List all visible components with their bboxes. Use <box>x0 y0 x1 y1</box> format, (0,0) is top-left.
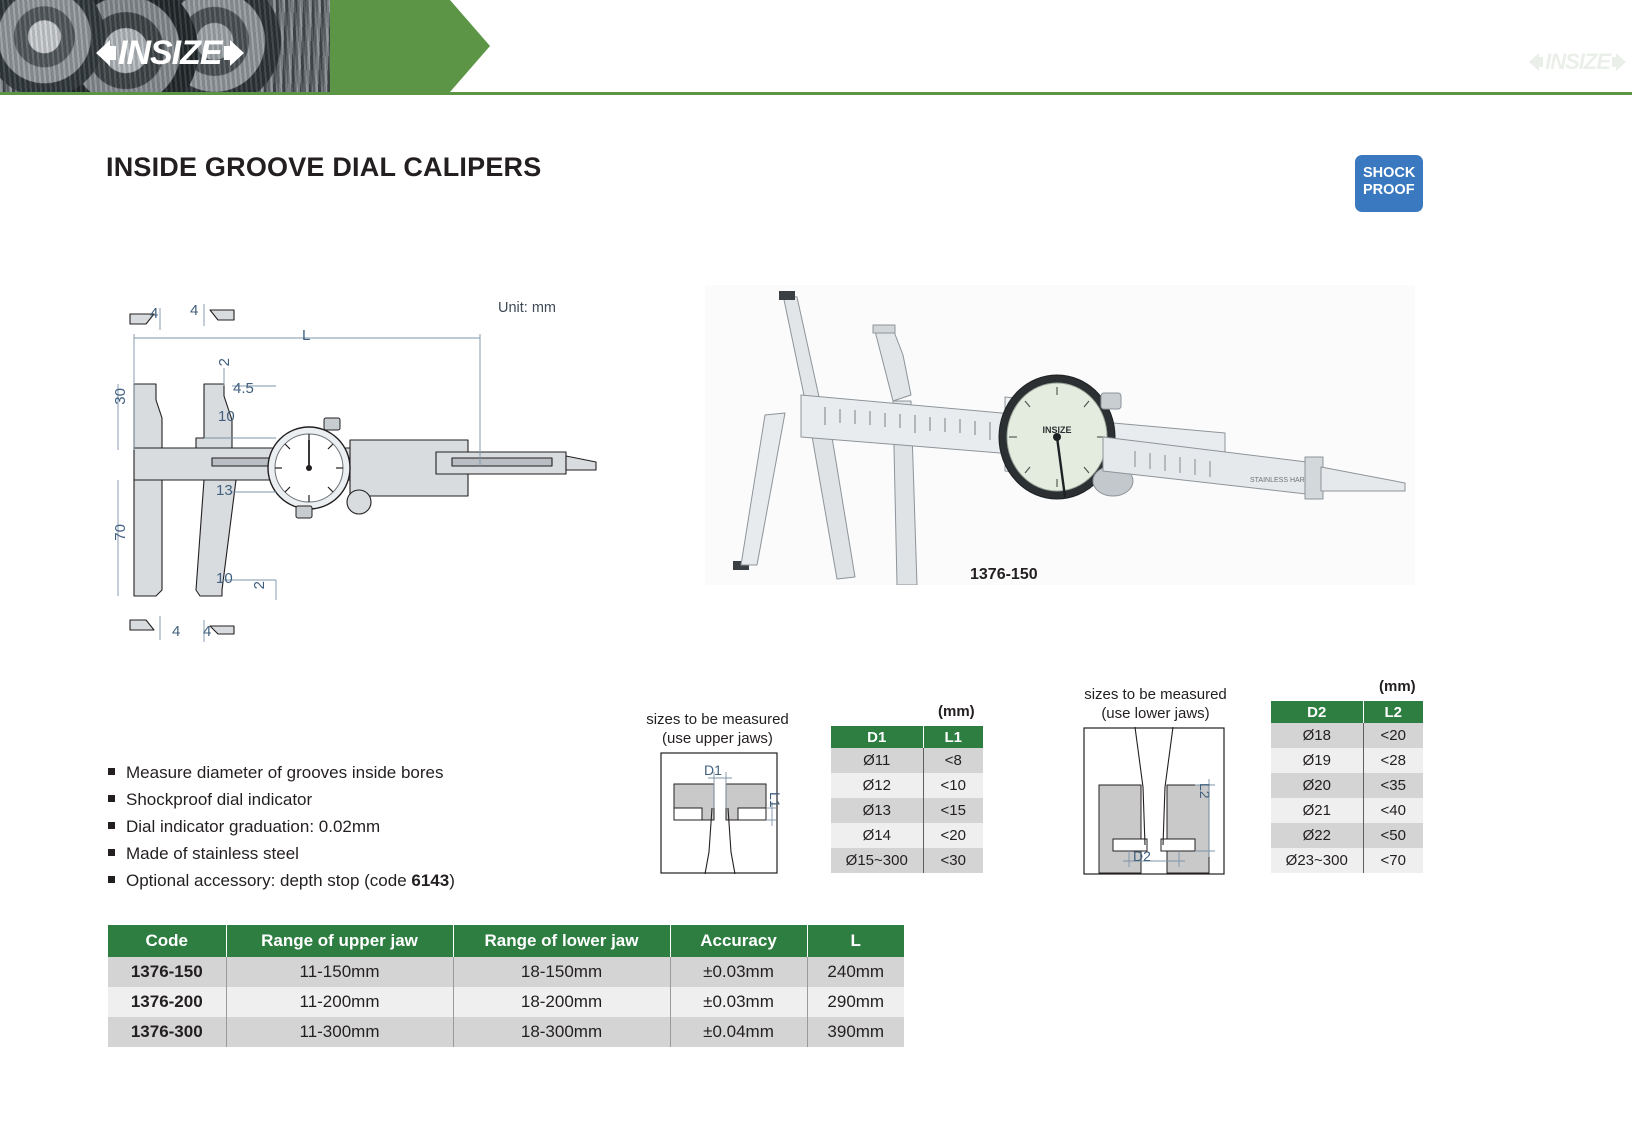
dim-jaw-2: 2 <box>216 358 233 366</box>
badge-line-1: SHOCK <box>1363 165 1423 182</box>
page-header: INSIZE <box>0 0 1632 98</box>
feature-text: Shockproof dial indicator <box>126 789 312 811</box>
cell-l1: <15 <box>923 798 983 823</box>
cell-l2: <35 <box>1363 773 1423 798</box>
bullet-icon <box>108 876 115 883</box>
cell-l2: <20 <box>1363 723 1423 748</box>
cell-accuracy: ±0.04mm <box>670 1017 807 1047</box>
upper-jaw-unit-label: (mm) <box>938 703 975 720</box>
table-header-row: Code Range of upper jaw Range of lower j… <box>108 925 904 957</box>
cell-code: 1376-300 <box>108 1017 226 1047</box>
table-row: Ø20 <35 <box>1271 773 1423 798</box>
cell-lower-range: 18-200mm <box>453 987 670 1017</box>
col-header-l2: L2 <box>1363 701 1423 723</box>
list-item: Dial indicator graduation: 0.02mm <box>108 816 578 838</box>
cell-d2: Ø19 <box>1271 748 1363 773</box>
cell-d1: Ø13 <box>831 798 923 823</box>
list-item: Shockproof dial indicator <box>108 789 578 811</box>
bullet-icon <box>108 822 115 829</box>
watermark-left-arrow-icon <box>1529 53 1539 71</box>
cell-accuracy: ±0.03mm <box>670 987 807 1017</box>
cell-l1: <10 <box>923 773 983 798</box>
table-row: 1376-150 11-150mm 18-150mm ±0.03mm 240mm <box>108 957 904 987</box>
upper-jaw-l1-label: L1 <box>767 792 783 808</box>
logo-right-arrow-icon <box>230 40 244 66</box>
list-item-accessory: Optional accessory: depth stop (code 614… <box>108 870 578 892</box>
cell-length: 240mm <box>807 957 904 987</box>
cell-d2: Ø22 <box>1271 823 1363 848</box>
feature-text: Made of stainless steel <box>126 843 299 865</box>
col-header-lower-range: Range of lower jaw <box>453 925 670 957</box>
table-row: 1376-300 11-300mm 18-300mm ±0.04mm 390mm <box>108 1017 904 1047</box>
specification-table: Code Range of upper jaw Range of lower j… <box>108 925 904 1047</box>
col-header-length: L <box>807 925 904 957</box>
upper-jaw-caption-line1: sizes to be measured <box>630 710 805 729</box>
cell-l1: <30 <box>923 848 983 873</box>
accessory-suffix: ) <box>449 871 455 890</box>
header-divider <box>0 92 1632 95</box>
caliper-technical-drawing <box>100 290 620 660</box>
table-row: Ø22 <50 <box>1271 823 1423 848</box>
lower-jaw-diagram <box>1083 727 1225 875</box>
table-row: Ø12 <10 <box>831 773 983 798</box>
cell-upper-range: 11-200mm <box>226 987 453 1017</box>
dim-top-right-4: 4 <box>190 302 198 319</box>
bullet-icon <box>108 849 115 856</box>
lower-jaw-caption-line2: (use lower jaws) <box>1068 704 1243 723</box>
col-header-d1: D1 <box>831 726 923 748</box>
lower-jaw-caption: sizes to be measured (use lower jaws) <box>1068 685 1243 723</box>
accessory-code: 6143 <box>411 871 449 890</box>
header-green-arrow <box>330 0 490 92</box>
upper-jaw-caption: sizes to be measured (use upper jaws) <box>630 710 805 748</box>
upper-jaw-caption-line2: (use upper jaws) <box>630 729 805 748</box>
col-header-l1: L1 <box>923 726 983 748</box>
cell-d2: Ø23~300 <box>1271 848 1363 873</box>
table-row: 1376-200 11-200mm 18-200mm ±0.03mm 290mm <box>108 987 904 1017</box>
dim-length-L: L <box>302 327 310 344</box>
cell-d2: Ø21 <box>1271 798 1363 823</box>
col-header-accuracy: Accuracy <box>670 925 807 957</box>
lower-jaw-l2-label: L2 <box>1197 783 1213 799</box>
dim-jaw-2-lower: 2 <box>251 581 268 589</box>
insize-watermark-logo: INSIZE <box>1529 52 1626 72</box>
cell-l1: <8 <box>923 748 983 773</box>
cell-upper-range: 11-150mm <box>226 957 453 987</box>
bullet-icon <box>108 795 115 802</box>
lower-jaw-caption-line1: sizes to be measured <box>1068 685 1243 704</box>
col-header-upper-range: Range of upper jaw <box>226 925 453 957</box>
cell-d1: Ø11 <box>831 748 923 773</box>
cell-accuracy: ±0.03mm <box>670 957 807 987</box>
dim-bottom-left-4: 4 <box>172 623 180 640</box>
lower-jaw-table: D2 L2 Ø18 <20 Ø19 <28 Ø20 <35 Ø21 <40 Ø2… <box>1271 701 1423 873</box>
table-header-row: D1 L1 <box>831 726 983 748</box>
cell-l2: <70 <box>1363 848 1423 873</box>
cell-lower-range: 18-150mm <box>453 957 670 987</box>
feature-text: Dial indicator graduation: 0.02mm <box>126 816 380 838</box>
cell-d2: Ø20 <box>1271 773 1363 798</box>
watermark-text: INSIZE <box>1543 52 1612 72</box>
cell-lower-range: 18-300mm <box>453 1017 670 1047</box>
accessory-prefix: Optional accessory: depth stop (code <box>126 871 411 890</box>
logo-text: INSIZE <box>116 38 224 68</box>
dim-jaw-10-lower: 10 <box>216 570 233 587</box>
page-title: INSIDE GROOVE DIAL CALIPERS <box>106 152 541 183</box>
lower-jaw-unit-label: (mm) <box>1379 678 1416 695</box>
bullet-icon <box>108 768 115 775</box>
features-list: Measure diameter of grooves inside bores… <box>108 762 578 897</box>
cell-l2: <40 <box>1363 798 1423 823</box>
table-row: Ø13 <15 <box>831 798 983 823</box>
table-row: Ø19 <28 <box>1271 748 1423 773</box>
cell-code: 1376-200 <box>108 987 226 1017</box>
cell-length: 290mm <box>807 987 904 1017</box>
feature-text: Measure diameter of grooves inside bores <box>126 762 444 784</box>
watermark-right-arrow-icon <box>1616 53 1626 71</box>
product-photo-1376-150: INSIZE STAINLESS HARDENED <box>705 285 1415 585</box>
col-header-d2: D2 <box>1271 701 1363 723</box>
upper-jaw-table: D1 L1 Ø11 <8 Ø12 <10 Ø13 <15 Ø14 <20 Ø15… <box>831 726 983 873</box>
cell-d1: Ø15~300 <box>831 848 923 873</box>
cell-d1: Ø12 <box>831 773 923 798</box>
dim-bottom-right-4: 4 <box>203 623 211 640</box>
cell-l1: <20 <box>923 823 983 848</box>
dim-top-left-4: 4 <box>150 305 158 322</box>
table-row: Ø11 <8 <box>831 748 983 773</box>
status-badge-shock-proof: SHOCK PROOF <box>1355 155 1423 212</box>
table-row: Ø15~300 <30 <box>831 848 983 873</box>
table-row: Ø14 <20 <box>831 823 983 848</box>
feature-text-accessory: Optional accessory: depth stop (code 614… <box>126 870 455 892</box>
cell-l2: <50 <box>1363 823 1423 848</box>
dim-height-70: 70 <box>112 524 129 541</box>
table-header-row: D2 L2 <box>1271 701 1423 723</box>
col-header-code: Code <box>108 925 226 957</box>
list-item: Measure diameter of grooves inside bores <box>108 762 578 784</box>
lower-jaw-d2-label: D2 <box>1133 848 1151 864</box>
table-row: Ø18 <20 <box>1271 723 1423 748</box>
cell-d1: Ø14 <box>831 823 923 848</box>
cell-upper-range: 11-300mm <box>226 1017 453 1047</box>
table-row: Ø23~300 <70 <box>1271 848 1423 873</box>
logo-left-arrow-icon <box>96 40 110 66</box>
dim-jaw-10-upper: 10 <box>218 408 235 425</box>
upper-jaw-d1-label: D1 <box>704 762 722 778</box>
insize-logo: INSIZE <box>96 38 244 68</box>
dim-jaw-4-5: 4.5 <box>233 380 254 397</box>
table-row: Ø21 <40 <box>1271 798 1423 823</box>
dim-height-30: 30 <box>112 388 129 405</box>
list-item: Made of stainless steel <box>108 843 578 865</box>
product-caption: 1376-150 <box>970 566 1038 584</box>
dim-depth-13: 13 <box>216 482 233 499</box>
badge-line-2: PROOF <box>1363 182 1423 199</box>
cell-code: 1376-150 <box>108 957 226 987</box>
cell-l2: <28 <box>1363 748 1423 773</box>
cell-length: 390mm <box>807 1017 904 1047</box>
cell-d2: Ø18 <box>1271 723 1363 748</box>
